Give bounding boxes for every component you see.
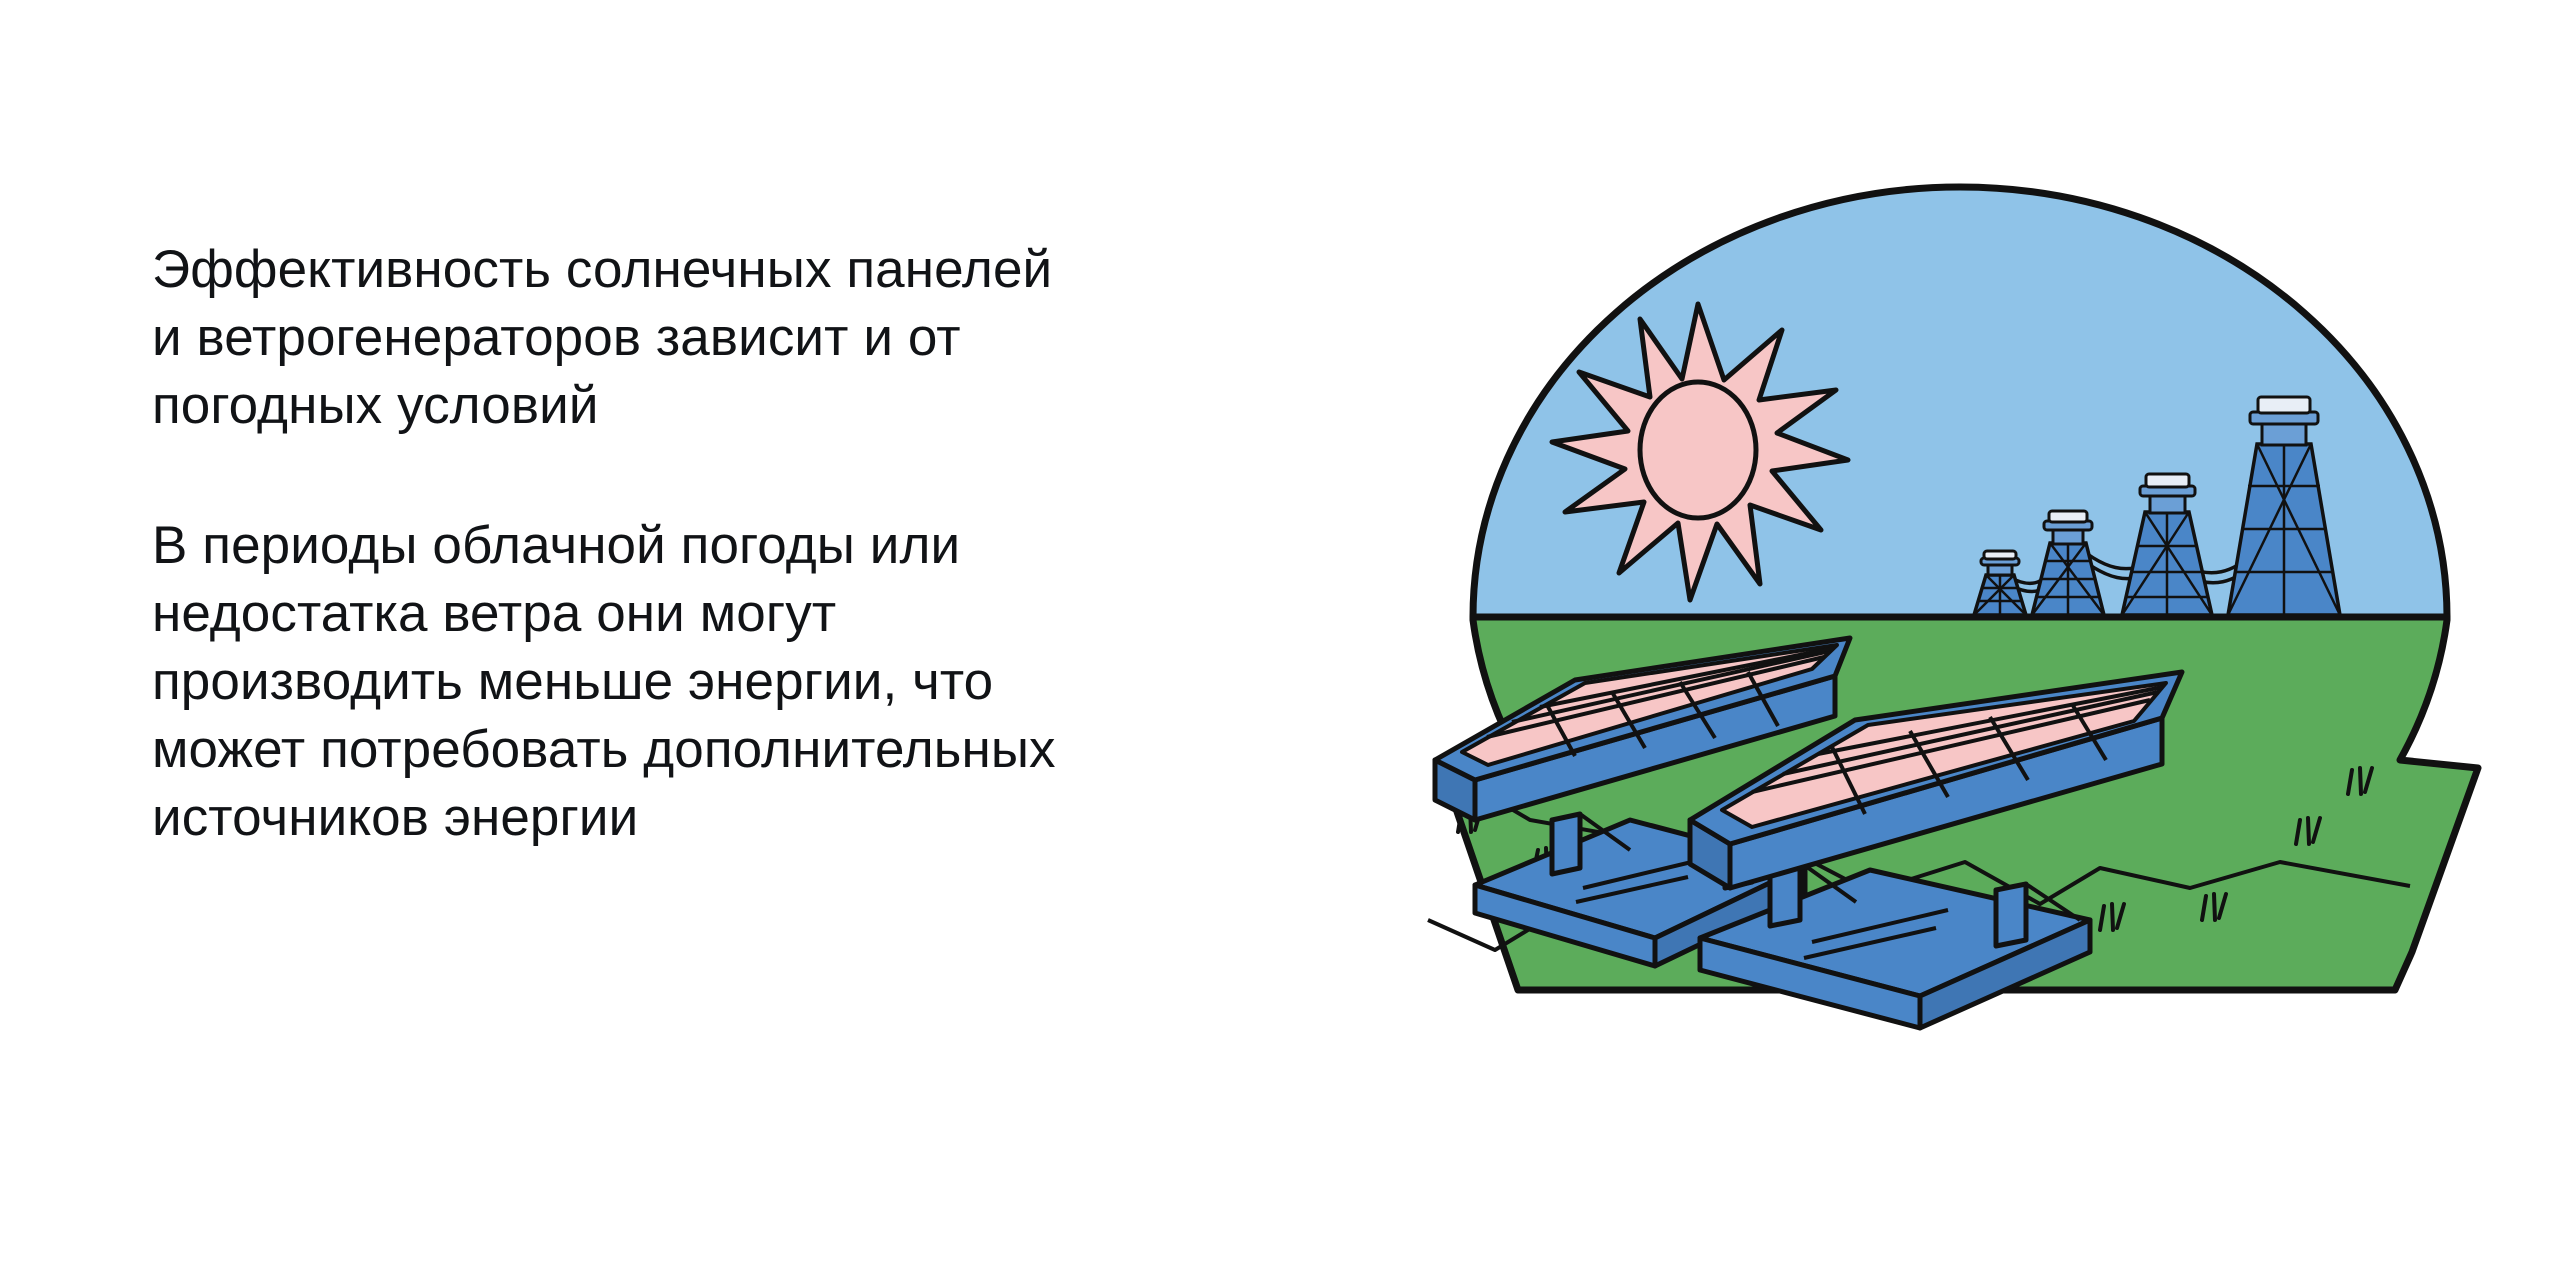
sun-disc: [1640, 382, 1756, 518]
solar-farm-illustration: [1400, 120, 2520, 1160]
slide-root: Эффективность солнечных панелей и ветрог…: [0, 0, 2560, 1280]
paragraph-1: Эффективность солнечных панелей и ветрог…: [152, 236, 1372, 440]
text-column: Эффективность солнечных панелей и ветрог…: [152, 236, 1372, 852]
power-tower-1: [1974, 551, 2026, 615]
illustration-svg: [1400, 120, 2520, 1160]
paragraph-2: В периоды облачной погоды или недостатка…: [152, 512, 1372, 852]
